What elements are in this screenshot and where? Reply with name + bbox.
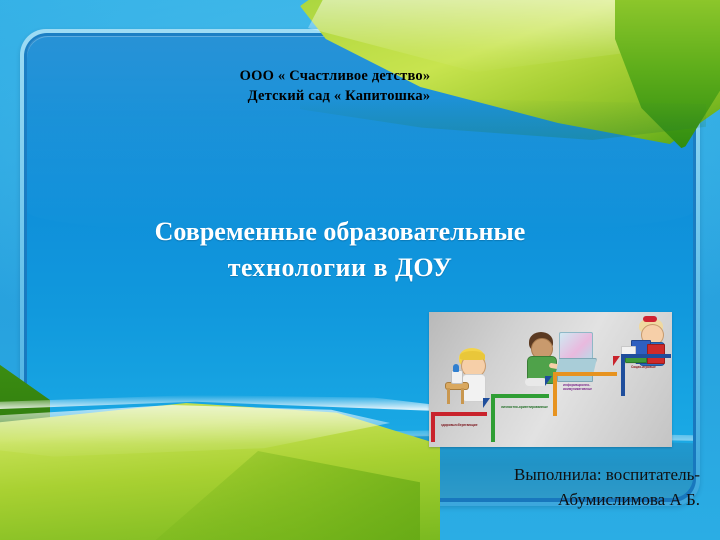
step-label-3: информационно-коммуникативные (563, 383, 617, 391)
step-arrow-2 (545, 376, 552, 386)
step-label-1: здоровьесберегающие (441, 423, 478, 427)
bottom-green-ribbon (0, 355, 440, 540)
child-right-bow (643, 316, 657, 322)
bottom-ribbon-shape (0, 403, 440, 540)
toy-cup (451, 370, 463, 384)
author-role: Выполнила: воспитатель- (400, 462, 700, 487)
computer-screen (559, 332, 593, 360)
organization-header: ООО « Счастливое детство» Детский сад « … (170, 66, 500, 106)
step-bar-4: Социо-игровые (621, 354, 671, 396)
stool-leg-2 (461, 388, 464, 404)
stool-leg-1 (447, 388, 450, 404)
step-arrow-1 (483, 398, 490, 408)
author-credit: Выполнила: воспитатель- Абумислимова А Б… (400, 462, 700, 512)
presentation-slide: ООО « Счастливое детство» Детский сад « … (0, 0, 720, 540)
kindergarten-name: Детский сад « Капитошка» (170, 86, 500, 106)
educational-technologies-image: здоровьесберегающие личностно-ориентиров… (429, 312, 672, 447)
organization-name: ООО « Счастливое детство» (170, 66, 500, 86)
title-line-2: технологии в ДОУ (60, 250, 620, 286)
step-bar-2: личностно-ориентированные (491, 394, 549, 442)
slide-title: Современные образовательные технологии в… (60, 214, 620, 286)
step-bar-3: информационно-коммуникативные (553, 372, 617, 416)
toy-cup-cap (453, 364, 459, 372)
child-left-fringe (460, 351, 485, 360)
child-center-leg (525, 378, 547, 386)
author-name: Абумислимова А Б. (400, 487, 700, 512)
step-arrow-3 (613, 356, 620, 366)
step-label-2: личностно-ориентированные (501, 405, 549, 409)
step-bar-1: здоровьесберегающие (431, 412, 487, 442)
step-label-4: Социо-игровые (631, 365, 656, 369)
title-line-1: Современные образовательные (60, 214, 620, 250)
